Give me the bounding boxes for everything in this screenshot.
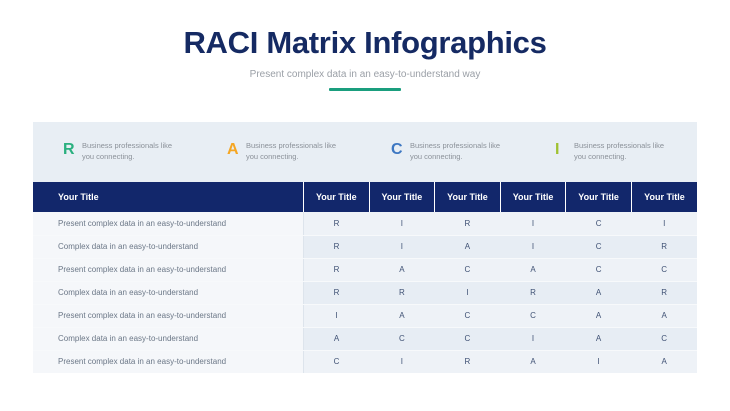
raci-cell: A [500, 258, 566, 281]
raci-cell: A [304, 327, 370, 350]
column-header-3[interactable]: Your Title [435, 182, 501, 212]
raci-cell: R [369, 281, 435, 304]
row-label: Complex data in an easy-to-understand [33, 235, 304, 258]
header: RACI Matrix Infographics Present complex… [0, 0, 730, 91]
raci-cell: C [435, 258, 501, 281]
legend-item-a: ABusiness professionals like you connect… [201, 141, 365, 163]
row-label: Present complex data in an easy-to-under… [33, 212, 304, 235]
raci-cell: R [304, 212, 370, 235]
raci-cell: I [500, 235, 566, 258]
raci-cell: C [435, 304, 501, 327]
table-row: Present complex data in an easy-to-under… [33, 350, 697, 373]
raci-cell: A [566, 327, 632, 350]
table-row: Present complex data in an easy-to-under… [33, 212, 697, 235]
raci-cell: C [631, 327, 697, 350]
legend-item-text: Business professionals like you connecti… [574, 141, 666, 163]
legend-item-r: RBusiness professionals like you connect… [37, 141, 201, 163]
table-row: Present complex data in an easy-to-under… [33, 304, 697, 327]
raci-cell: A [369, 304, 435, 327]
raci-cell: I [435, 281, 501, 304]
page-subtitle: Present complex data in an easy-to-under… [0, 69, 730, 80]
raci-cell: A [369, 258, 435, 281]
raci-cell: I [631, 212, 697, 235]
raci-cell: I [566, 350, 632, 373]
legend-item-c: CBusiness professionals like you connect… [365, 141, 529, 163]
accent-bar-wrap [0, 88, 730, 91]
legend-letter-icon: A [227, 142, 237, 158]
column-header-4[interactable]: Your Title [500, 182, 566, 212]
raci-cell: A [631, 304, 697, 327]
legend-letter-icon: C [391, 142, 401, 158]
row-label: Present complex data in an easy-to-under… [33, 258, 304, 281]
raci-cell: A [566, 304, 632, 327]
legend-item-i: IBusiness professionals like you connect… [529, 141, 693, 163]
column-header-5[interactable]: Your Title [566, 182, 632, 212]
page-title: RACI Matrix Infographics [0, 26, 730, 60]
legend-letter-icon: I [555, 142, 565, 158]
table-row: Complex data in an easy-to-understandRRI… [33, 281, 697, 304]
raci-cell: C [435, 327, 501, 350]
raci-cell: I [369, 235, 435, 258]
row-label: Present complex data in an easy-to-under… [33, 304, 304, 327]
raci-cell: C [369, 327, 435, 350]
raci-cell: I [500, 327, 566, 350]
raci-cell: R [631, 281, 697, 304]
legend-item-text: Business professionals like you connecti… [410, 141, 502, 163]
accent-bar [329, 88, 401, 91]
table-body: Present complex data in an easy-to-under… [33, 212, 697, 373]
legend-item-text: Business professionals like you connecti… [82, 141, 174, 163]
table-row: Complex data in an easy-to-understandRIA… [33, 235, 697, 258]
raci-cell: C [566, 235, 632, 258]
legend-letter-icon: R [63, 142, 73, 158]
column-header-1[interactable]: Your Title [304, 182, 370, 212]
row-label: Complex data in an easy-to-understand [33, 327, 304, 350]
raci-cell: C [566, 212, 632, 235]
column-header-6[interactable]: Your Title [631, 182, 697, 212]
raci-cell: R [304, 258, 370, 281]
raci-cell: A [566, 281, 632, 304]
table-row: Complex data in an easy-to-understandACC… [33, 327, 697, 350]
raci-cell: C [500, 304, 566, 327]
raci-cell: I [369, 212, 435, 235]
raci-cell: C [304, 350, 370, 373]
raci-cell: A [631, 350, 697, 373]
raci-cell: R [435, 212, 501, 235]
row-label: Complex data in an easy-to-understand [33, 281, 304, 304]
table-row: Present complex data in an easy-to-under… [33, 258, 697, 281]
column-header-2[interactable]: Your Title [369, 182, 435, 212]
raci-cell: C [566, 258, 632, 281]
legend-item-text: Business professionals like you connecti… [246, 141, 338, 163]
raci-cell: R [435, 350, 501, 373]
raci-cell: R [500, 281, 566, 304]
column-header-label[interactable]: Your Title [33, 182, 304, 212]
raci-cell: A [435, 235, 501, 258]
row-label: Present complex data in an easy-to-under… [33, 350, 304, 373]
raci-legend: RBusiness professionals like you connect… [33, 122, 697, 182]
raci-cell: R [631, 235, 697, 258]
raci-cell: I [500, 212, 566, 235]
table-header: Your TitleYour TitleYour TitleYour Title… [33, 182, 697, 212]
raci-cell: I [369, 350, 435, 373]
table-header-row: Your TitleYour TitleYour TitleYour Title… [33, 182, 697, 212]
raci-matrix-table: Your TitleYour TitleYour TitleYour Title… [33, 182, 697, 373]
raci-cell: R [304, 235, 370, 258]
slide-root: RACI Matrix Infographics Present complex… [0, 0, 730, 411]
raci-cell: A [500, 350, 566, 373]
raci-cell: R [304, 281, 370, 304]
raci-cell: C [631, 258, 697, 281]
raci-cell: I [304, 304, 370, 327]
